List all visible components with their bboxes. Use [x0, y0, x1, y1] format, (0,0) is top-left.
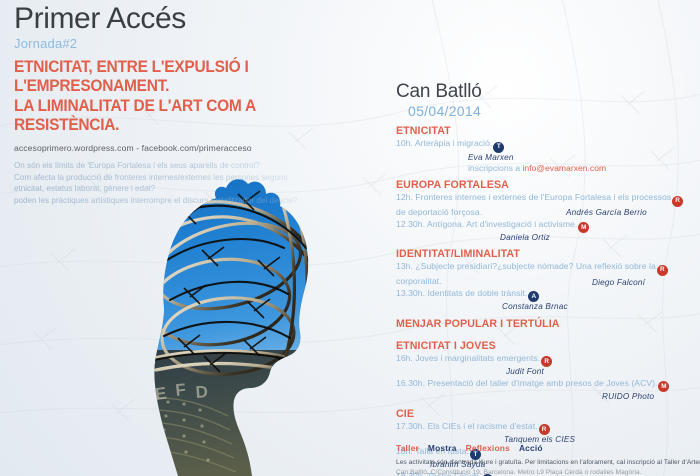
section-etnicitat-i-joves: ETNICITAT I JOVES 16h. Joves i marginali…	[396, 340, 696, 403]
poster-canvas: E F D	[0, 0, 700, 476]
footer-note: Les activitats són d'entrada lliure i gr…	[396, 458, 696, 476]
programme-entry: 13.30h. Identitats de doble trànsit.A	[396, 288, 696, 303]
badge-taller-icon: T	[493, 142, 504, 153]
intro-line: poden les pràctiques artístiques interro…	[14, 195, 384, 207]
edition-label: Jornada#2	[14, 36, 384, 51]
legend-taller: Taller	[396, 443, 419, 453]
category-legend: TallerMostraReflexionsAcció	[396, 443, 552, 453]
badge-reflexions-icon: R	[541, 356, 552, 367]
section-title: ETNICITAT	[396, 125, 681, 137]
section-identitat-liminalitat: IDENTITAT/LIMINALITAT 13h. ¿Subjecte pre…	[396, 248, 696, 312]
badge-mostra-icon: M	[578, 222, 589, 233]
entry-time-text-cont: de deportació forçosa.	[396, 207, 696, 218]
section-europa-fortalesa: EUROPA FORTALESA 12h. Fronteres internes…	[396, 179, 696, 243]
programme-entry: 10h. Arteràpia i migració.T	[396, 138, 696, 153]
entry-time-text: 10h. Arteràpia i migració.	[396, 138, 492, 148]
programme-column: Can Batlló 05/04/2014 ETNICITAT 10h. Art…	[396, 82, 696, 476]
intro-line: On són els límits de 'Europa Fortalesa i…	[14, 160, 384, 172]
footer-line-2: Can Batlló, C/Constitució 19, Barcelona.…	[396, 468, 696, 476]
badge-reflexions-icon: R	[539, 424, 550, 435]
legend-accio: Acció	[519, 443, 543, 453]
entry-time-text: 13.30h. Identitats de doble trànsit.	[396, 288, 527, 298]
headline: ETNICITAT, ENTRE L'EXPULSIÓ I L'EMPRESON…	[14, 58, 362, 136]
legend-reflexions: Reflexions	[466, 443, 510, 453]
svg-text:D: D	[195, 382, 209, 402]
page-title: Primer Accés	[14, 4, 384, 34]
headline-line-1: ETNICITAT, ENTRE L'EXPULSIÓ I L'EMPRESON…	[14, 58, 362, 97]
programme-entry: 12h. Fronteres internes i externes de l'…	[396, 192, 696, 207]
section-title: EUROPA FORTALESA	[396, 179, 681, 191]
entry-time-text: 12.30h. Antígona. Art d'investigació i a…	[396, 219, 577, 229]
programme-entry: 13h. ¿Subjecte presidiari?¿subjecte nòma…	[396, 261, 696, 276]
badge-accio-icon: A	[528, 291, 539, 302]
intro-line: Com afecta la producció de fronteres int…	[14, 172, 384, 184]
entry-time-text: 17.30h. Els CIEs i el racisme d'estat.	[396, 421, 538, 431]
speaker-name: Judit Font	[506, 367, 696, 377]
badge-reflexions-icon: R	[672, 196, 683, 207]
section-etnicitat: ETNICITAT 10h. Arteràpia i migració.T Ev…	[396, 125, 696, 174]
speaker-name: Daniela Ortiz	[500, 233, 696, 243]
section-title: CIE	[396, 408, 681, 420]
badge-mostra-icon: M	[658, 381, 669, 392]
inscription-email[interactable]: info@evamarxen.com	[522, 163, 606, 173]
venue-name: Can Batlló	[396, 82, 696, 102]
website-links[interactable]: accesoprimero.wordpress.com - facebook.c…	[14, 143, 384, 153]
section-menjar-popular: MENJAR POPULAR I TERTÚLIA	[396, 318, 696, 330]
programme-entry: 17.30h. Els CIEs i el racisme d'estat.R	[396, 421, 696, 436]
entry-time-text: 12h. Fronteres internes i externes de l'…	[396, 192, 671, 202]
entry-time-text: 16h. Joves i marginalitats emergents.	[396, 353, 540, 363]
section-title: ETNICITAT I JOVES	[396, 340, 681, 352]
programme-entry: 16.30h. Presentació del taller d'imatge …	[396, 378, 696, 393]
left-text-block: Primer Accés Jornada#2 ETNICITAT, ENTRE …	[14, 4, 384, 207]
programme-entry: 12.30h. Antígona. Art d'investigació i a…	[396, 219, 696, 234]
speaker-name: RUIDO Photo	[602, 392, 696, 402]
footer-line-1: Les activitats són d'entrada lliure i gr…	[396, 458, 696, 468]
legend-mostra: Mostra	[428, 443, 457, 453]
speaker-name: Eva Marxen	[468, 153, 696, 163]
speaker-name: Constanza Brnac	[502, 302, 696, 312]
programme-entry: 16h. Joves i marginalitats emergents.R	[396, 353, 696, 368]
svg-text:F: F	[174, 380, 186, 400]
badge-reflexions-icon: R	[657, 265, 668, 276]
inscription-note: inscripcions a info@evamarxen.com	[468, 163, 696, 174]
entry-time-text: 16.30h. Presentació del taller d'imatge …	[396, 378, 657, 388]
event-date: 05/04/2014	[408, 103, 696, 119]
headline-line-2: LA LIMINALITAT DE L'ART COM A RESISTÈNCI…	[14, 97, 362, 136]
entry-time-text-cont: corporalitat.	[396, 276, 696, 287]
inscription-prefix: inscripcions a	[468, 163, 522, 173]
intro-line: etnicitat, estatus laboral, gènere i eda…	[14, 183, 384, 195]
intro-paragraph: On són els límits de 'Europa Fortalesa i…	[14, 160, 384, 207]
section-title: MENJAR POPULAR I TERTÚLIA	[396, 318, 681, 330]
entry-time-text: 13h. ¿Subjecte presidiari?¿subjecte nòma…	[396, 261, 656, 271]
section-title: IDENTITAT/LIMINALITAT	[396, 248, 681, 260]
